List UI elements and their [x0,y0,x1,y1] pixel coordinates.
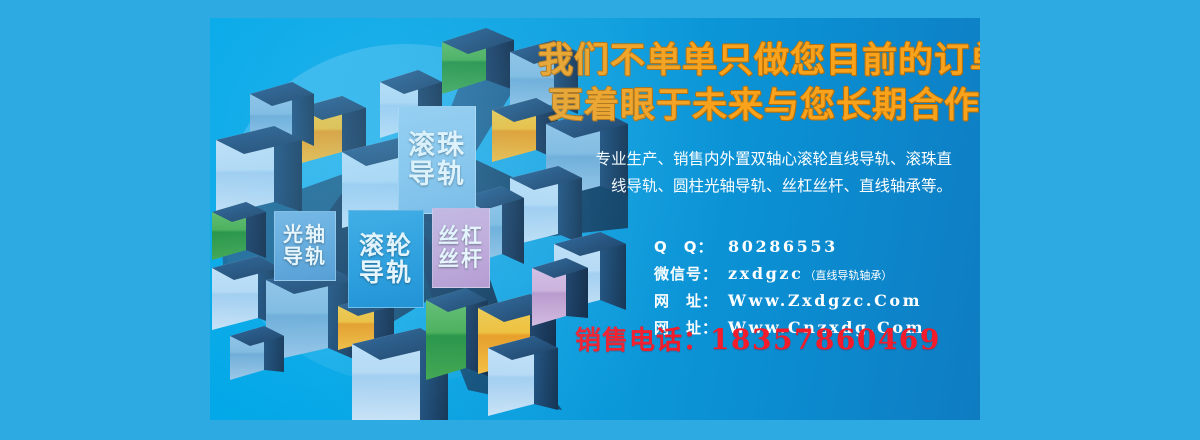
contact-label-wechat: 微信号： [654,263,728,284]
sales-phone: 销售电话：18357860469 [575,320,941,357]
contact-note-wechat: （直线导轨轴承） [804,267,892,283]
contact-row-website-1: 网 址： Www.Zxdgzc.Com [654,290,980,311]
banner-content: 我们不单单只做您目前的订单 更着眼于未来与您长期合作 专业生产、销售内外置双轴心… [550,18,980,420]
tile-line-2: 导轨 [359,259,413,286]
company-description: 专业生产、销售内外置双轴心滚轮直线导轨、滚珠直线导轨、圆柱光轴导轨、丝杠丝杆、直… [592,146,952,199]
tile-line-2: 导轨 [283,246,327,268]
contact-label-qq: Q Q： [654,236,728,257]
tile-line-1: 滚轮 [359,232,413,259]
tile-line-1: 滚珠 [408,131,466,160]
contact-row-qq: Q Q： 80286553 [654,236,980,257]
contact-value-qq[interactable]: 80286553 [728,237,838,256]
tile-line-2: 导轨 [408,160,466,189]
headline-line-1: 我们不单单只做您目前的订单 [538,40,980,83]
product-tile-gunzhu-daogui[interactable]: 滚珠 导轨 [398,106,476,214]
tile-line-2: 丝杆 [438,248,484,271]
tile-line-1: 光轴 [283,224,327,246]
contact-row-wechat: 微信号： zxdgzc （直线导轨轴承） [654,263,980,284]
banner-stage: 滚珠 导轨 光轴 导轨 滚轮 导轨 丝杠 丝杆 我们不单单只做您目前的订单 更着… [0,0,1200,440]
product-tile-sigang-sigan[interactable]: 丝杠 丝杆 [432,208,490,288]
banner-card: 滚珠 导轨 光轴 导轨 滚轮 导轨 丝杠 丝杆 我们不单单只做您目前的订单 更着… [210,18,980,420]
contact-label-website-1: 网 址： [654,290,728,311]
contact-value-wechat[interactable]: zxdgzc [728,264,803,283]
sales-phone-label: 销售电话： [575,326,710,356]
headline: 我们不单单只做您目前的订单 更着眼于未来与您长期合作 [538,40,980,127]
contact-value-website-1[interactable]: Www.Zxdgzc.Com [728,291,922,310]
headline-line-2: 更着眼于未来与您长期合作 [538,85,980,128]
product-tile-gunlun-daogui[interactable]: 滚轮 导轨 [348,210,424,308]
tile-line-1: 丝杠 [438,225,484,248]
sales-phone-number[interactable]: 18357860469 [710,323,941,356]
product-tile-guangzhou-daogui[interactable]: 光轴 导轨 [274,211,336,281]
